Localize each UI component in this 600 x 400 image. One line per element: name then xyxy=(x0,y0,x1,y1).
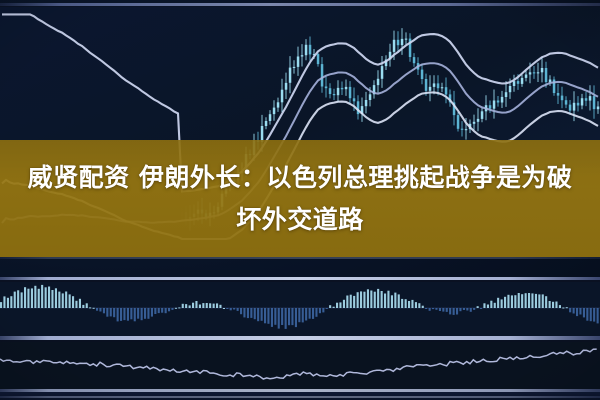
divider-macd-top-shadow xyxy=(0,280,600,282)
line-chart-svg xyxy=(0,340,600,390)
macd-chart-svg xyxy=(0,280,600,336)
thumbnail-canvas: 威贤配资 伊朗外长：以色列总理挑起战争是为破 坏外交道路 xyxy=(0,0,600,400)
divider-bottom xyxy=(0,389,600,392)
headline-text: 威贤配资 伊朗外长：以色列总理挑起战争是为破 坏外交道路 xyxy=(0,140,600,257)
macd-panel xyxy=(0,280,600,336)
divider-below-band xyxy=(0,257,600,259)
headline-line-1: 威贤配资 伊朗外长：以色列总理挑起战争是为破 xyxy=(28,163,573,192)
divider-bottom-2 xyxy=(0,396,600,398)
line-panel xyxy=(0,340,600,390)
headline-line-2: 坏外交道路 xyxy=(236,205,364,234)
divider-macd-bottom-shadow xyxy=(0,340,600,342)
